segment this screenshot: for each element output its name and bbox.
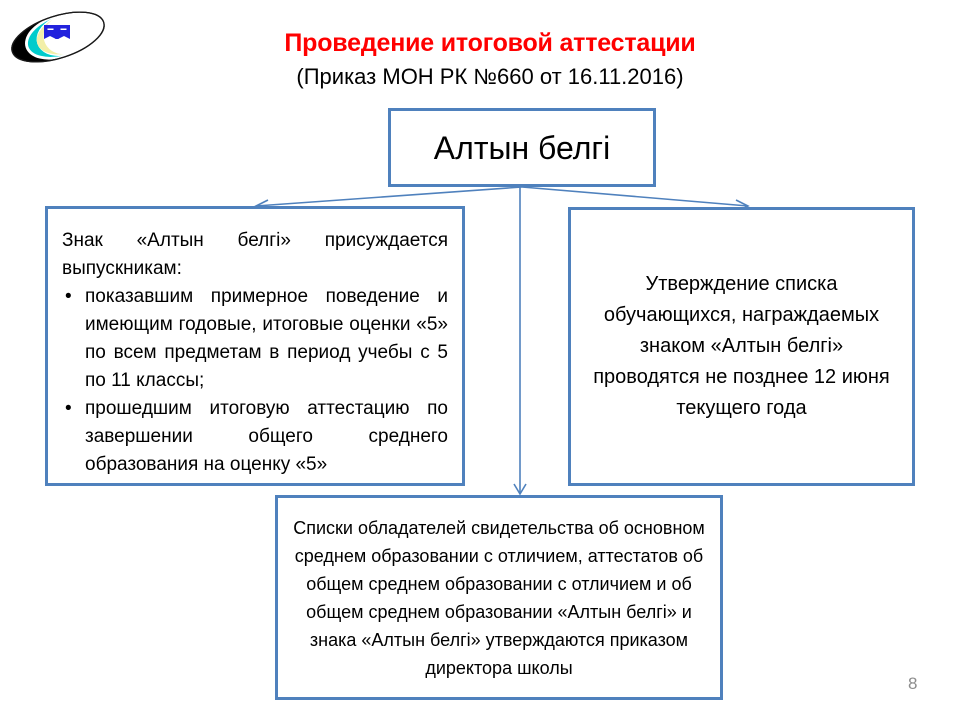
root-node-label: Алтын белгі: [434, 129, 610, 167]
list-item: • прошедшим итоговую аттестацию по завер…: [62, 395, 448, 479]
logo-svg: [6, 6, 110, 68]
book-in-ellipse-logo: [6, 6, 110, 68]
bullet-dot-icon: •: [65, 395, 72, 423]
book-icon: [44, 25, 70, 39]
bottom-node-box: Списки обладателей свидетельства об осно…: [275, 495, 723, 700]
bottom-node-text: Списки обладателей свидетельства об осно…: [286, 514, 712, 682]
slide-canvas: Проведение итоговой аттестации (Приказ М…: [0, 0, 960, 720]
page-subtitle: (Приказ МОН РК №660 от 16.11.2016): [180, 63, 800, 90]
left-node-box: Знак «Алтын белгі» присуждается выпускни…: [45, 206, 465, 486]
right-node-text: Утверждение списка обучающихся, награжда…: [589, 269, 894, 424]
right-node-box: Утверждение списка обучающихся, награжда…: [568, 207, 915, 486]
list-item-text: показавшим примерное поведение и имеющим…: [85, 286, 448, 391]
left-node-bullet-list: • показавшим примерное поведение и имеющ…: [62, 283, 448, 479]
page-number: 8: [908, 674, 938, 694]
bullet-dot-icon: •: [65, 283, 72, 311]
list-item-text: прошедшим итоговую аттестацию по заверше…: [85, 398, 448, 475]
page-title: Проведение итоговой аттестации: [180, 28, 800, 58]
root-node-box: Алтын белгі: [388, 108, 656, 187]
list-item: • показавшим примерное поведение и имеющ…: [62, 283, 448, 395]
left-node-lead: Знак «Алтын белгі» присуждается выпускни…: [62, 227, 448, 283]
connector-root-to-bottom: [514, 187, 526, 494]
